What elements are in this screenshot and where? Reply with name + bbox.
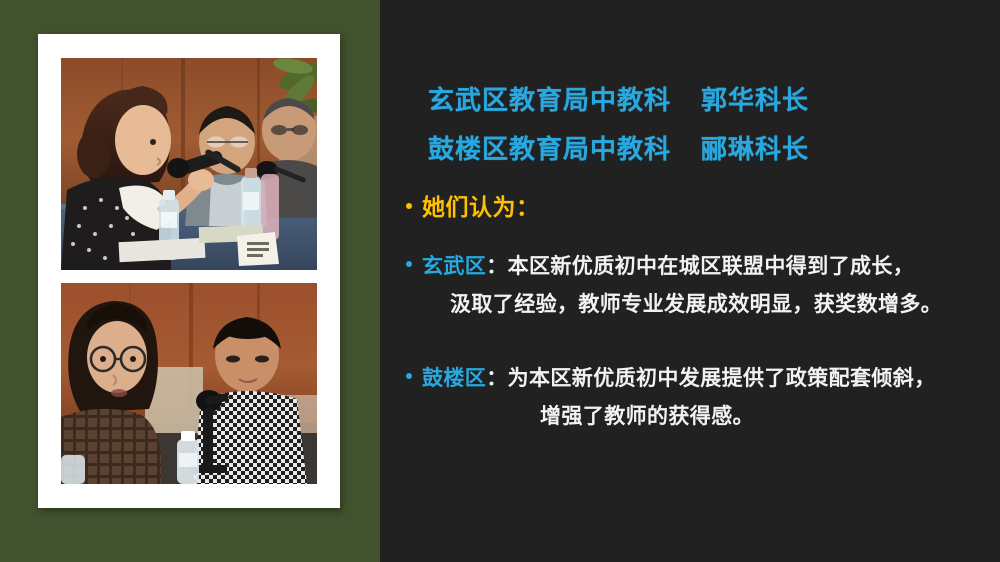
bullet-item-gulou-label: 鼓楼区 <box>422 367 486 390</box>
bullet-list: 她们认为： 玄武区：本区新优质初中在城区联盟中得到了成长， 汲取了经验，教师专业… <box>396 190 996 438</box>
conference-photo-bottom-image <box>61 283 317 484</box>
bullet-item-gulou: 鼓楼区：为本区新优质初中发展提供了政策配套倾斜， 增强了教师的获得感。 <box>396 360 996 436</box>
bullet-item-xuanwu-text: 玄武区：本区新优质初中在城区联盟中得到了成长， 汲取了经验，教师专业发展成效明显… <box>422 248 996 324</box>
bullet-item-gulou-text: 鼓楼区：为本区新优质初中发展提供了政策配套倾斜， 增强了教师的获得感。 <box>422 360 996 436</box>
bullet-intro-text: 她们认为： <box>422 194 540 220</box>
heading-line-2: 鼓楼区教育局中教科郦琳科长 <box>428 125 988 174</box>
bullet-dot-icon <box>406 203 412 209</box>
conference-photo-bottom <box>61 283 317 484</box>
bullet-item-xuanwu-label: 玄武区 <box>422 255 486 278</box>
bullet-dot-icon <box>406 261 412 267</box>
bullet-item-xuanwu: 玄武区：本区新优质初中在城区联盟中得到了成长， 汲取了经验，教师专业发展成效明显… <box>396 248 996 324</box>
conference-photo-top <box>61 58 317 270</box>
bullet-item-xuanwu-colon: ： <box>486 255 507 278</box>
photo-frame-card <box>38 34 340 508</box>
heading-block: 玄武区教育局中教科郭华科长 鼓楼区教育局中教科郦琳科长 <box>428 76 988 174</box>
heading-line-2-office: 鼓楼区教育局中教科 <box>428 134 671 164</box>
spacer-between-items <box>396 326 996 360</box>
heading-line-1: 玄武区教育局中教科郭华科长 <box>428 76 988 125</box>
heading-line-1-office: 玄武区教育局中教科 <box>428 85 671 115</box>
right-content-panel: 玄武区教育局中教科郭华科长 鼓楼区教育局中教科郦琳科长 她们认为： 玄武区：本区… <box>380 0 1000 562</box>
conference-photo-top-image <box>61 58 317 270</box>
bullet-dot-icon <box>406 373 412 379</box>
presentation-slide: 玄武区教育局中教科郭华科长 鼓楼区教育局中教科郦琳科长 她们认为： 玄武区：本区… <box>0 0 1000 562</box>
bullet-item-gulou-colon: ： <box>486 367 507 390</box>
bullet-item-xuanwu-line1: 本区新优质初中在城区联盟中得到了成长， <box>508 255 915 278</box>
bullet-item-xuanwu-line2: 汲取了经验，教师专业发展成效明显，获奖数增多。 <box>422 286 996 324</box>
bullet-item-gulou-line1: 为本区新优质初中发展提供了政策配套倾斜， <box>508 367 936 390</box>
bullet-item-gulou-line2: 增强了教师的获得感。 <box>422 398 996 436</box>
heading-line-2-person: 郦琳科长 <box>701 134 809 164</box>
spacer-after-intro <box>396 226 996 248</box>
bullet-intro-row: 她们认为： <box>396 190 996 224</box>
heading-line-1-person: 郭华科长 <box>701 85 809 115</box>
